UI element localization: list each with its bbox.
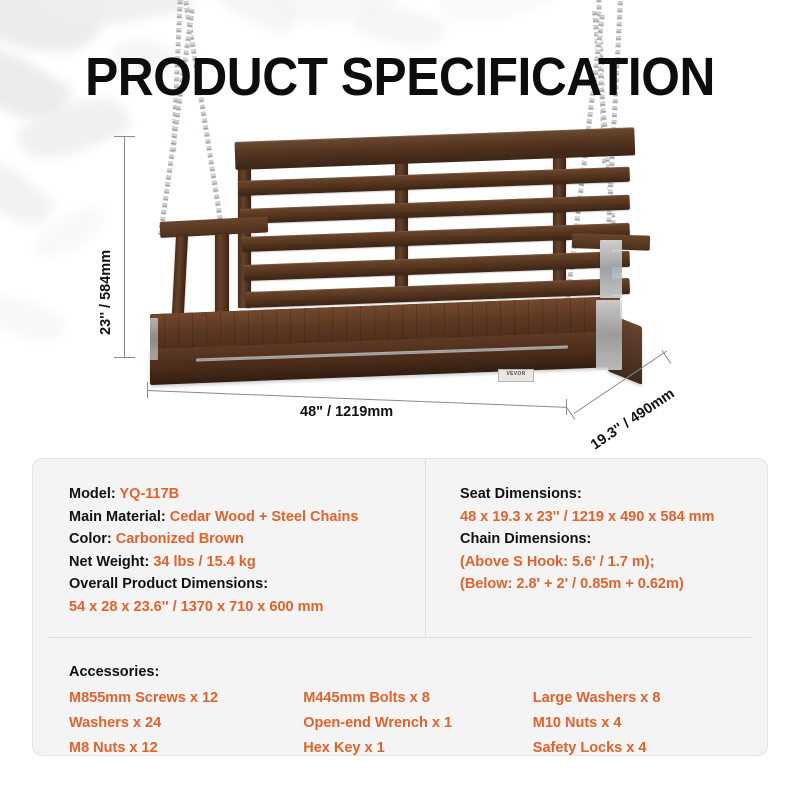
accessory-item: M855mm Screws x 12 [69, 686, 303, 711]
accessories-columns: M855mm Screws x 12 Washers x 24 M8 Nuts … [69, 686, 767, 761]
dimension-tick-depth-far [662, 350, 672, 364]
spec-value-overall-dimensions: 54 x 28 x 23.6'' / 1370 x 710 x 600 mm [69, 596, 425, 619]
spec-value-chain-below: (Below: 2.8' + 2' / 0.85m + 0.62m) [460, 573, 767, 596]
dimension-tick-height-bottom [114, 357, 135, 358]
spec-label-net-weight: Net Weight: [69, 554, 149, 570]
back-slat-2 [240, 195, 630, 224]
spec-label-material: Main Material: [69, 509, 166, 525]
spec-value-net-weight: 34 lbs / 15.4 kg [153, 554, 255, 570]
spec-value-material: Cedar Wood + Steel Chains [170, 509, 359, 525]
panel-top-section: Model: YQ-117B Main Material: Cedar Wood… [33, 459, 767, 637]
accessory-item: M10 Nuts x 4 [533, 711, 767, 736]
arm-support-left-rear [215, 234, 229, 314]
page-title: PRODUCT SPECIFICATION [32, 46, 768, 108]
dimension-label-height: 23'' / 584mm [98, 250, 114, 335]
back-slat-1 [238, 167, 630, 196]
specification-panel: Model: YQ-117B Main Material: Cedar Wood… [32, 458, 768, 756]
spec-row-color: Color: Carbonized Brown [69, 528, 425, 551]
accessory-item: Washers x 24 [69, 711, 303, 736]
bracket-right-lower [596, 300, 622, 370]
accessory-item: Open-end Wrench x 1 [303, 711, 533, 736]
back-post-center [395, 150, 408, 300]
dimension-label-depth: 19.3'' / 490mm [588, 386, 678, 454]
spec-value-model: YQ-117B [120, 486, 180, 502]
accessory-item: Hex Key x 1 [303, 736, 533, 761]
accessory-item: M8 Nuts x 12 [69, 736, 303, 761]
spec-label-model: Model: [69, 486, 116, 502]
back-post-right [553, 142, 566, 294]
spec-column-left: Model: YQ-117B Main Material: Cedar Wood… [33, 459, 425, 637]
bracket-right-upper [600, 240, 622, 298]
spec-column-right: Seat Dimensions: 48 x 19.3 x 23'' / 1219… [425, 459, 767, 637]
spec-row-material: Main Material: Cedar Wood + Steel Chains [69, 506, 425, 529]
accessories-column-2: M445mm Bolts x 8 Open-end Wrench x 1 Hex… [303, 686, 533, 761]
spec-value-color: Carbonized Brown [116, 531, 244, 547]
accessories-section: Accessories: M855mm Screws x 12 Washers … [33, 638, 767, 755]
dimension-tick-width-left [147, 382, 148, 398]
brand-plate: VEVOR [498, 369, 534, 382]
accessories-column-3: Large Washers x 8 M10 Nuts x 4 Safety Lo… [533, 686, 767, 761]
spec-value-chain-above: (Above S Hook: 5.6' / 1.7 m); [460, 551, 767, 574]
bracket-left [150, 318, 158, 360]
spec-row-model: Model: YQ-117B [69, 483, 425, 506]
dimension-label-width: 48" / 1219mm [300, 404, 393, 420]
accessory-item: Safety Locks x 4 [533, 736, 767, 761]
arm-support-left-front [172, 236, 188, 315]
dimension-tick-height-top [114, 136, 135, 137]
spec-value-seat-dimensions: 48 x 19.3 x 23'' / 1219 x 490 x 584 mm [460, 506, 767, 529]
spec-label-seat-dimensions: Seat Dimensions: [460, 483, 767, 506]
product-specification-page: VEVOR 23'' / 584mm 48" / 1219mm 19.3'' /… [0, 0, 800, 800]
spec-label-color: Color: [69, 531, 112, 547]
accessory-item: M445mm Bolts x 8 [303, 686, 533, 711]
spec-label-chain-dimensions: Chain Dimensions: [460, 528, 767, 551]
spec-row-net-weight: Net Weight: 34 lbs / 15.4 kg [69, 551, 425, 574]
back-top-rail [234, 127, 635, 170]
accessory-item: Large Washers x 8 [533, 686, 767, 711]
spec-label-overall-dimensions: Overall Product Dimensions: [69, 573, 425, 596]
accessories-heading: Accessories: [69, 660, 767, 684]
accessories-column-1: M855mm Screws x 12 Washers x 24 M8 Nuts … [69, 686, 303, 761]
dimension-line-height [124, 136, 125, 358]
